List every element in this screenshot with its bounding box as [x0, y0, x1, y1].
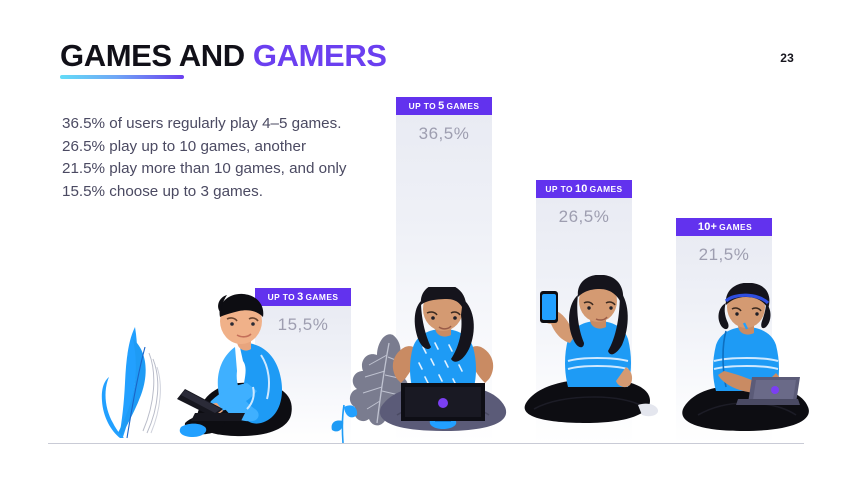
illustration-woman-with-phone [512, 275, 662, 443]
bar-value-up-to-5: 36,5% [396, 124, 492, 144]
bar-badge-suffix: GAMES [719, 222, 752, 232]
bar-badge-number: 10 [575, 183, 588, 195]
ground-baseline [48, 443, 804, 444]
bar-badge-10-plus: 10+ GAMES [676, 218, 772, 236]
bar-badge-number: 5 [438, 100, 444, 112]
bar-badge-prefix: UP TO [409, 101, 437, 111]
bar-value-10-plus: 21,5% [676, 245, 772, 265]
slide-canvas: GAMES AND GAMERS 23 36.5% of users regul… [0, 0, 850, 478]
bar-badge-prefix: UP TO [545, 184, 573, 194]
bar-badge-up-to-10: UP TO 10 GAMES [536, 180, 632, 198]
bar-badge-number: 10+ [698, 221, 717, 233]
illustration-person-with-laptop [668, 283, 820, 443]
bar-badge-suffix: GAMES [446, 101, 479, 111]
illustration-man-with-laptop [165, 291, 313, 443]
bar-badge-suffix: GAMES [590, 184, 623, 194]
blue-leaf-plant-icon [95, 325, 165, 443]
bar-badge-up-to-5: UP TO 5 GAMES [396, 97, 492, 115]
blue-sprout-icon [326, 387, 360, 443]
bar-value-up-to-10: 26,5% [536, 207, 632, 227]
illustration-woman-with-laptop [363, 287, 523, 443]
